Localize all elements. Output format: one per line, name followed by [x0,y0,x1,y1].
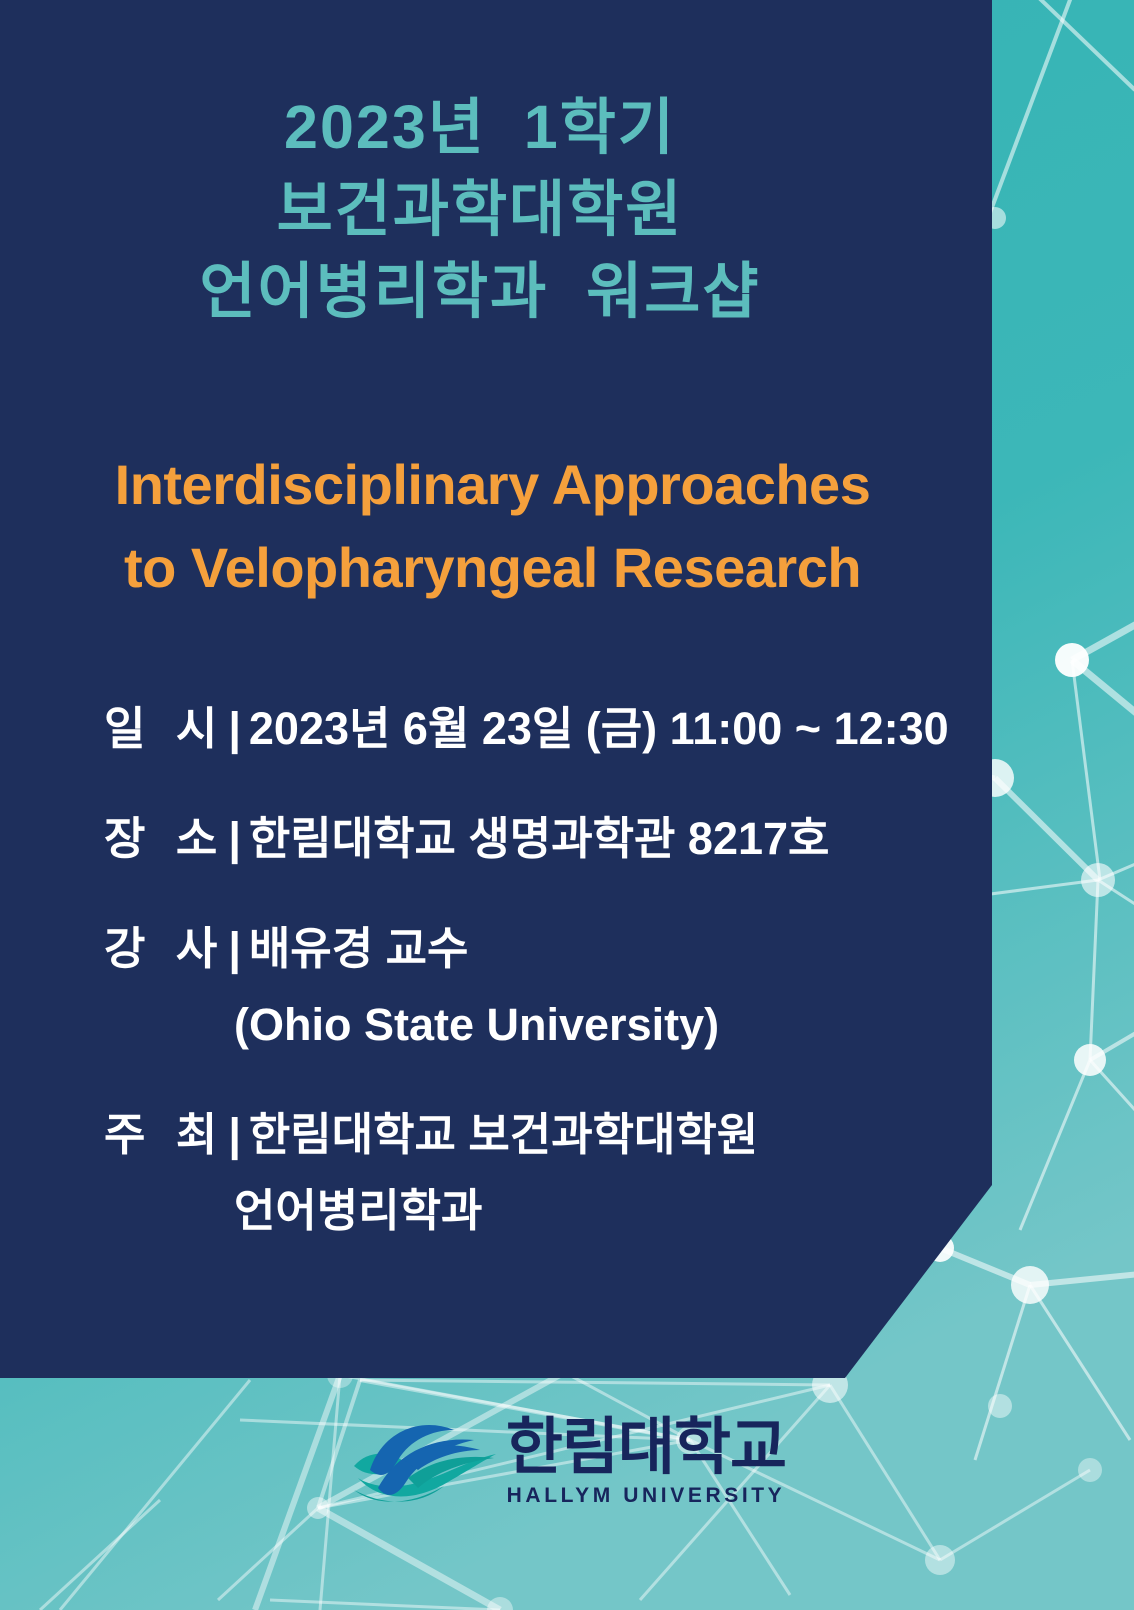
detail-label-venue: 장 소 [104,810,226,868]
detail-value-venue: 한림대학교 생명과학관 8217호 [249,810,830,868]
detail-value-datetime: 2023년 6월 23일 (금) 11:00 ~ 12:30 [249,700,949,758]
detail-label-speaker: 강 사 [104,920,226,978]
english-title: Interdisciplinary Approaches to Velophar… [40,443,945,609]
korean-title-line-1: 2023년 1학기 [0,86,960,168]
detail-separator: | [228,920,241,978]
detail-separator: | [228,700,241,758]
korean-title-line-2: 보건과학대학원 [0,168,960,250]
detail-label-datetime: 일 시 [104,700,226,758]
english-title-line-2: to Velopharyngeal Research [40,526,945,609]
detail-row-datetime: 일 시 | 2023년 6월 23일 (금) 11:00 ~ 12:30 [104,700,954,758]
logo-korean-name: 한림대학교 [506,1417,786,1479]
detail-value-speaker: 배유경 교수 [249,920,469,978]
detail-label-host: 주 최 [104,1106,226,1164]
english-title-line-1: Interdisciplinary Approaches [40,443,945,526]
hallym-wave-mark-icon [348,1408,498,1514]
detail-row-host: 주 최 | 한림대학교 보건과학대학원 [104,1106,954,1164]
workshop-poster: 2023년 1학기 보건과학대학원 언어병리학과 워크샵 Interdiscip… [0,0,1134,1610]
hallym-university-logo: 한림대학교 HALLYM UNIVERSITY [0,1408,1134,1514]
details-list: 일 시 | 2023년 6월 23일 (금) 11:00 ~ 12:30 장 소… [104,700,954,1240]
detail-row-venue: 장 소 | 한림대학교 생명과학관 8217호 [104,810,954,868]
korean-title: 2023년 1학기 보건과학대학원 언어병리학과 워크샵 [0,86,960,332]
detail-separator: | [228,1106,241,1164]
detail-sub-speaker-affiliation: (Ohio State University) [104,996,954,1054]
poster-content: 2023년 1학기 보건과학대학원 언어병리학과 워크샵 Interdiscip… [0,0,992,1378]
detail-value-host: 한림대학교 보건과학대학원 [249,1106,758,1164]
korean-title-line-3: 언어병리학과 워크샵 [0,250,960,332]
detail-separator: | [228,810,241,868]
logo-english-name: HALLYM UNIVERSITY [507,1485,786,1506]
detail-row-speaker: 강 사 | 배유경 교수 [104,920,954,978]
detail-sub-host-department: 언어병리학과 [104,1182,954,1240]
